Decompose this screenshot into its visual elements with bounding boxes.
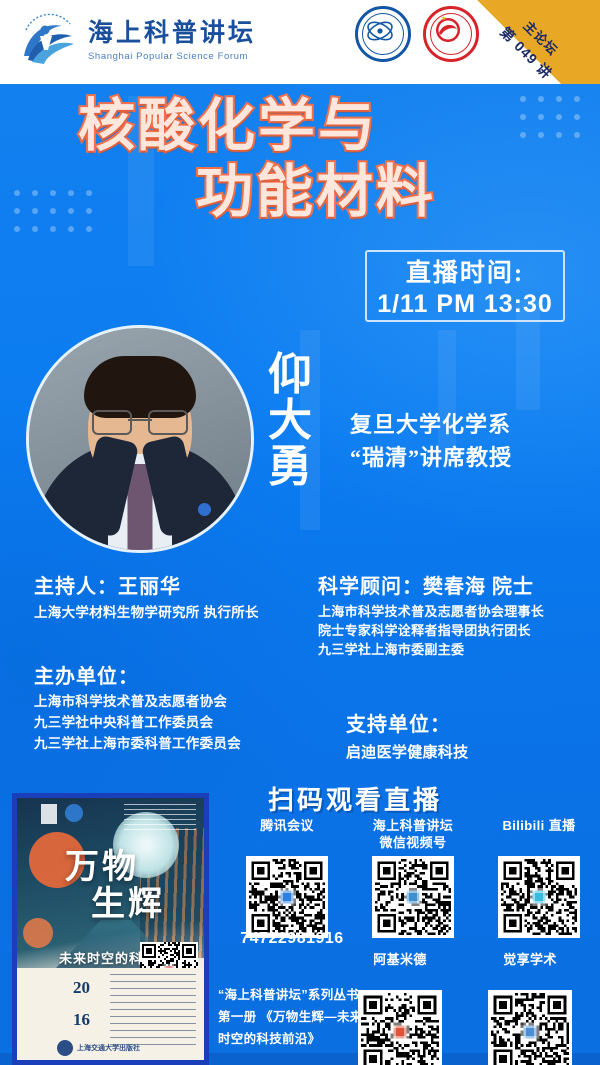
affiliation-line-2: “瑞清”讲席教授 bbox=[350, 441, 590, 474]
scan-title-text: 扫码观看直播 bbox=[268, 786, 442, 815]
book-publisher: 上海交通大学出版社 bbox=[57, 1040, 140, 1056]
qr-label-bilibili: Bilibili 直播 bbox=[484, 818, 594, 852]
organizer-line-2: 九三学社中央科普工作委员会 bbox=[34, 713, 314, 734]
title-line-2: 功能材料 bbox=[0, 162, 600, 224]
organizer-line-1: 上海市科学技术普及志愿者协会 bbox=[34, 692, 314, 713]
qr-label-archimedes: 阿基米德 bbox=[350, 952, 450, 986]
archimedes-qr[interactable] bbox=[358, 990, 442, 1065]
broadcast-time-box: 直播时间: 1/11 PM 13:30 bbox=[365, 250, 565, 322]
header-bar: 海上科普讲坛 Shanghai Popular Science Forum bbox=[0, 0, 600, 84]
qr-label-juexiang: 觉享学术 bbox=[480, 952, 580, 986]
book-cover: 万物 生辉 未来时空的科技前沿 20 16 上海交通大学出版社 bbox=[12, 793, 209, 1065]
host-block: 主持人：王丽华 上海大学材料生物学研究所 执行所长 bbox=[34, 570, 314, 624]
juexiang-academic-qr[interactable] bbox=[488, 990, 572, 1065]
speaker-name-char-3: 勇 bbox=[262, 444, 318, 490]
book-title: 万物 生辉 bbox=[65, 850, 195, 923]
tencent-meeting-qr[interactable] bbox=[246, 856, 328, 938]
qr-row-secondary: 阿基米德 觉享学术 bbox=[350, 952, 600, 1065]
meeting-id: 74722981916 bbox=[232, 930, 352, 948]
organizer-block: 主办单位： 上海市科学技术普及志愿者协会 九三学社中央科普工作委员会 九三学社上… bbox=[34, 660, 314, 755]
broadcast-datetime: 1/11 PM 13:30 bbox=[377, 290, 553, 319]
advisor-line-3: 九三学社上海市委副主委 bbox=[318, 641, 588, 660]
title-line-1: 核酸化学与 bbox=[0, 96, 600, 158]
broadcast-label: 直播时间: bbox=[406, 253, 524, 289]
book-caption: “海上科普讲坛”系列丛书第一册 《万物生辉—未来时空的科技前沿》 bbox=[218, 985, 368, 1051]
qr-cell-tencent: 腾讯会议 bbox=[232, 818, 342, 938]
support-line-1: 启迪医学健康科技 bbox=[346, 741, 588, 764]
forum-name-en: Shanghai Popular Science Forum bbox=[88, 51, 256, 62]
book-cover-art: 万物 生辉 未来时空的科技前沿 20 16 上海交通大学出版社 bbox=[17, 798, 204, 1060]
poster-root: 海上科普讲坛 Shanghai Popular Science Forum bbox=[0, 0, 600, 1065]
forum-logo-icon bbox=[18, 10, 80, 72]
book-number-1: 20 bbox=[73, 978, 90, 998]
forum-name-cn: 海上科普讲坛 bbox=[88, 21, 256, 46]
advisor-line-1: 上海市科学技术普及志愿者协会理事长 bbox=[318, 603, 588, 622]
advisor-head: 科学顾问：樊春海 院士 bbox=[318, 570, 588, 599]
bilibili-live-qr[interactable] bbox=[498, 856, 580, 938]
speaker-name-char-1: 仰 bbox=[262, 352, 318, 398]
poster-title: 核酸化学与 功能材料 bbox=[0, 96, 600, 223]
book-title-line-1: 万物 bbox=[65, 850, 195, 887]
wechat-channel-qr[interactable] bbox=[372, 856, 454, 938]
credits-right-column: 科学顾问：樊春海 院士 上海市科学技术普及志愿者协会理事长 院士专家科学诠释者指… bbox=[318, 570, 588, 764]
speaker-affiliation: 复旦大学化学系 “瑞清”讲席教授 bbox=[350, 408, 590, 474]
qr-cell-wechat: 海上科普讲坛 微信视频号 bbox=[358, 818, 468, 938]
qr-cell-juexiang: 觉享学术 bbox=[480, 952, 580, 1065]
qr-row-primary: 腾讯会议 海上科普讲坛 微信视频号 Bilibili 直播 bbox=[232, 818, 600, 938]
science-association-logo bbox=[355, 6, 411, 62]
advisor-line-2: 院士专家科学诠释者指导团执行团长 bbox=[318, 622, 588, 641]
qr-cell-bilibili: Bilibili 直播 bbox=[484, 818, 594, 938]
affiliation-line-1: 复旦大学化学系 bbox=[350, 408, 590, 441]
organizer-line-3: 九三学社上海市委科普工作委员会 bbox=[34, 734, 314, 755]
support-head: 支持单位： bbox=[346, 708, 588, 737]
speaker-portrait bbox=[26, 325, 254, 553]
host-head: 主持人：王丽华 bbox=[34, 570, 314, 599]
host-line-1: 上海大学材料生物学研究所 执行所长 bbox=[34, 603, 314, 624]
qr-label-tencent: 腾讯会议 bbox=[232, 818, 342, 852]
credits-left-column: 主持人：王丽华 上海大学材料生物学研究所 执行所长 主办单位： 上海市科学技术普… bbox=[34, 570, 314, 755]
forum-logo: 海上科普讲坛 Shanghai Popular Science Forum bbox=[18, 10, 256, 72]
advisor-block: 科学顾问：樊春海 院士 上海市科学技术普及志愿者协会理事长 院士专家科学诠释者指… bbox=[318, 570, 588, 660]
speaker-name: 仰 大 勇 bbox=[262, 352, 318, 491]
qr-label-wechat: 海上科普讲坛 微信视频号 bbox=[358, 818, 468, 852]
book-number-2: 16 bbox=[73, 1010, 90, 1030]
book-title-line-2: 生辉 bbox=[65, 887, 195, 924]
speaker-name-char-2: 大 bbox=[262, 398, 318, 444]
organizer-head: 主办单位： bbox=[34, 660, 314, 689]
support-block: 支持单位： 启迪医学健康科技 bbox=[318, 708, 588, 764]
